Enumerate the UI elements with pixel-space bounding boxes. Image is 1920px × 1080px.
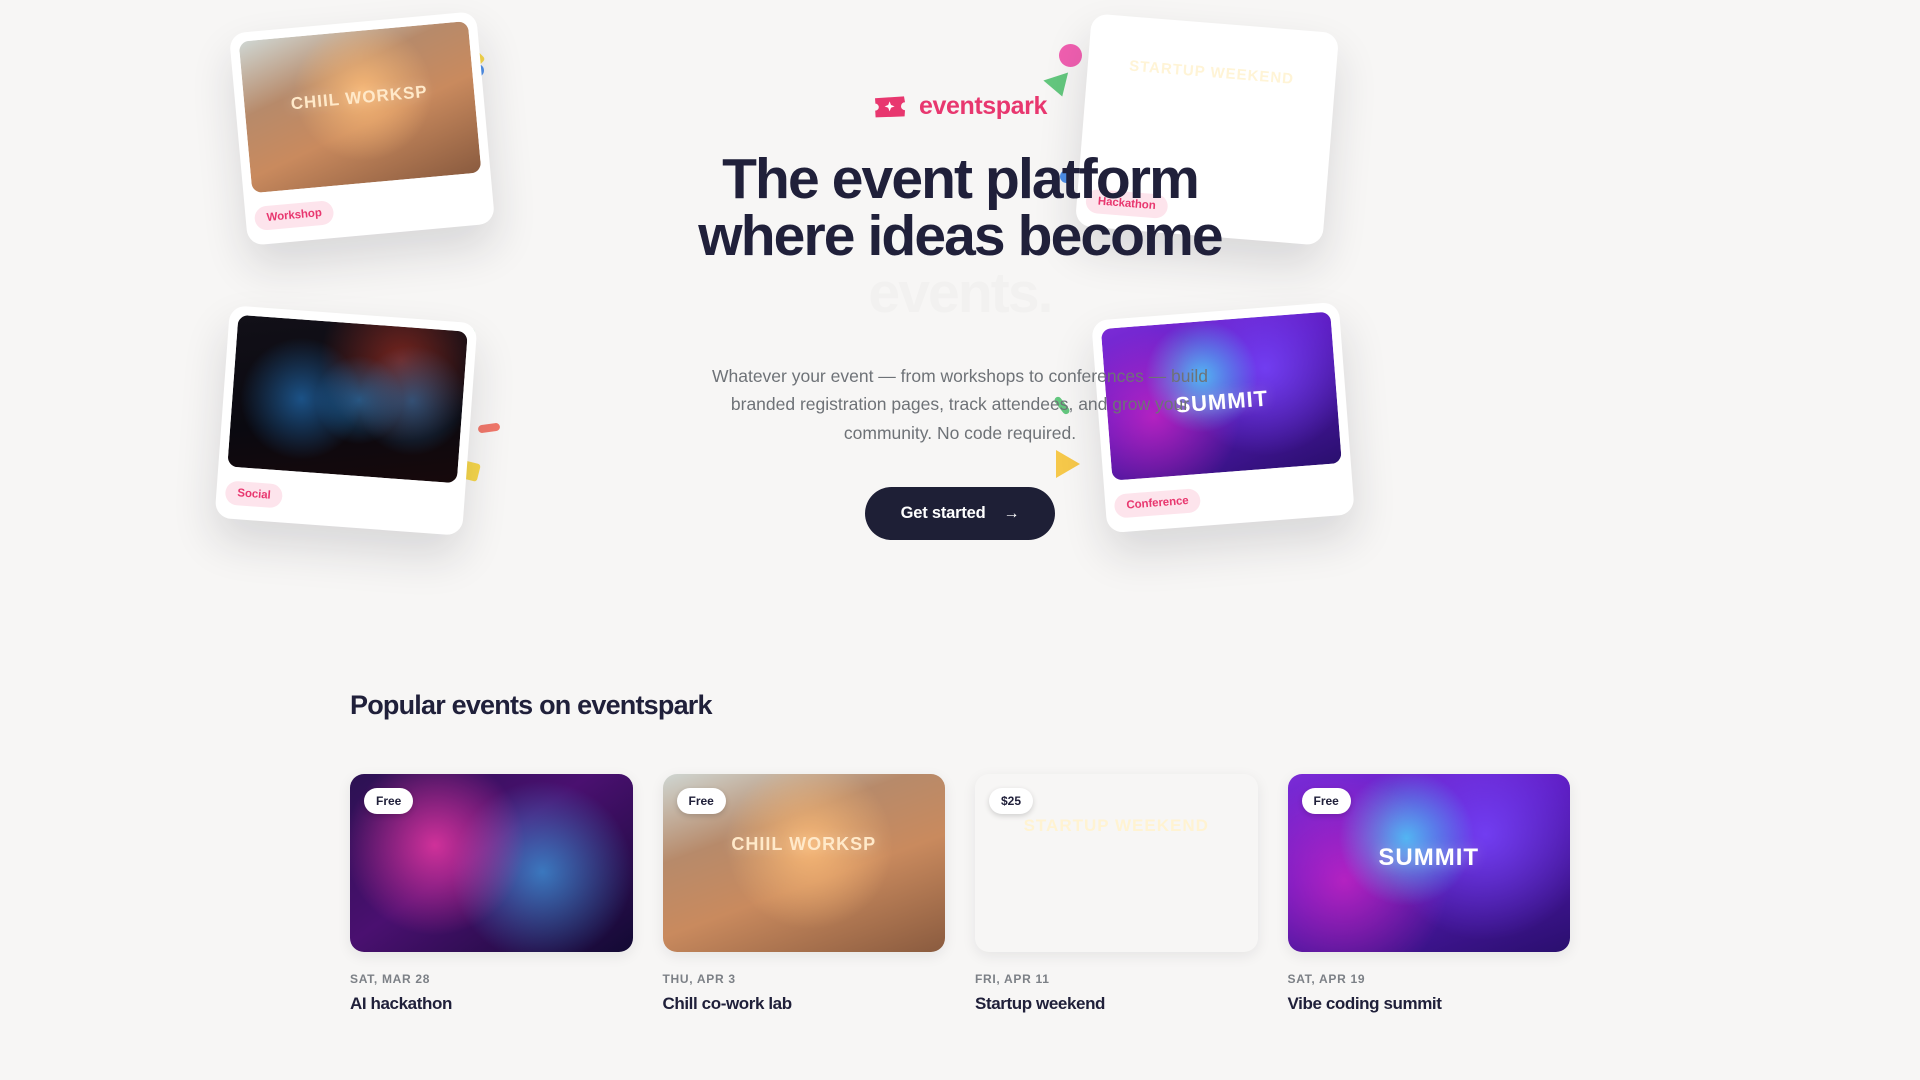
price-badge: Free [364,788,413,814]
hero-subcopy: Whatever your event — from workshops to … [700,362,1220,447]
event-thumb: Free [350,774,633,952]
event-date: THU, APR 3 [663,972,946,986]
headline-line-3: events. [868,261,1051,325]
price-badge: $25 [989,788,1033,814]
event-title: AI hackathon [350,994,633,1014]
photo-text: SUMMIT [1288,845,1571,870]
hero-content: eventspark The event platform where idea… [580,92,1340,540]
popular-events-section: Popular events on eventspark Free SAT, M… [0,690,1920,1014]
photo-text: STARTUP WEEKEND [975,817,1258,835]
headline-line-2: where ideas become [698,204,1221,268]
ticket-sparkle-icon [873,95,907,118]
get-started-button[interactable]: Get started → [865,487,1056,540]
hero-section: CHIIL WORKSP Workshop STARTUP WEEKEND Ha… [0,0,1920,690]
floating-card-workshop[interactable]: CHIIL WORKSP Workshop [229,11,495,246]
event-thumb: CHIIL WORKSP Free [663,774,946,952]
headline-line-1: The event platform [722,147,1198,211]
event-card[interactable]: STARTUP WEEKEND $25 FRI, APR 11 Startup … [975,774,1258,1014]
event-date: SAT, APR 19 [1288,972,1571,986]
floating-card-thumb: CHIIL WORKSP [239,21,482,193]
price-badge: Free [677,788,726,814]
event-title: Startup weekend [975,994,1258,1014]
floating-card-social[interactable]: Social [215,305,478,536]
event-title: Vibe coding summit [1288,994,1571,1014]
event-date: SAT, MAR 28 [350,972,633,986]
section-title: Popular events on eventspark [350,690,1570,721]
brand-name: eventspark [919,92,1047,121]
event-date: FRI, APR 11 [975,972,1258,986]
event-thumb: SUMMIT Free [1288,774,1571,952]
category-badge: Workshop [254,200,335,231]
photo-text: CHIIL WORKSP [663,835,946,854]
pink-dot-decor-topright [1059,44,1082,67]
event-thumb: STARTUP WEEKEND $25 [975,774,1258,952]
event-card[interactable]: CHIIL WORKSP Free THU, APR 3 Chill co-wo… [663,774,946,1014]
coral-bar-decor [478,423,501,434]
event-title: Chill co-work lab [663,994,946,1014]
event-card[interactable]: SUMMIT Free SAT, APR 19 Vibe coding summ… [1288,774,1571,1014]
price-badge: Free [1302,788,1351,814]
photo-neon-workstations [227,315,468,483]
landing-page: CHIIL WORKSP Workshop STARTUP WEEKEND Ha… [0,0,1920,1080]
get-started-label: Get started [901,504,986,523]
events-grid: Free SAT, MAR 28 AI hackathon CHIIL WORK… [350,774,1570,1014]
floating-card-thumb [227,315,468,483]
event-card[interactable]: Free SAT, MAR 28 AI hackathon [350,774,633,1014]
arrow-right-icon: → [1004,506,1020,522]
category-badge: Social [225,480,284,508]
page-title: The event platform where ideas become ev… [580,151,1340,322]
brand-logo[interactable]: eventspark [580,92,1340,121]
